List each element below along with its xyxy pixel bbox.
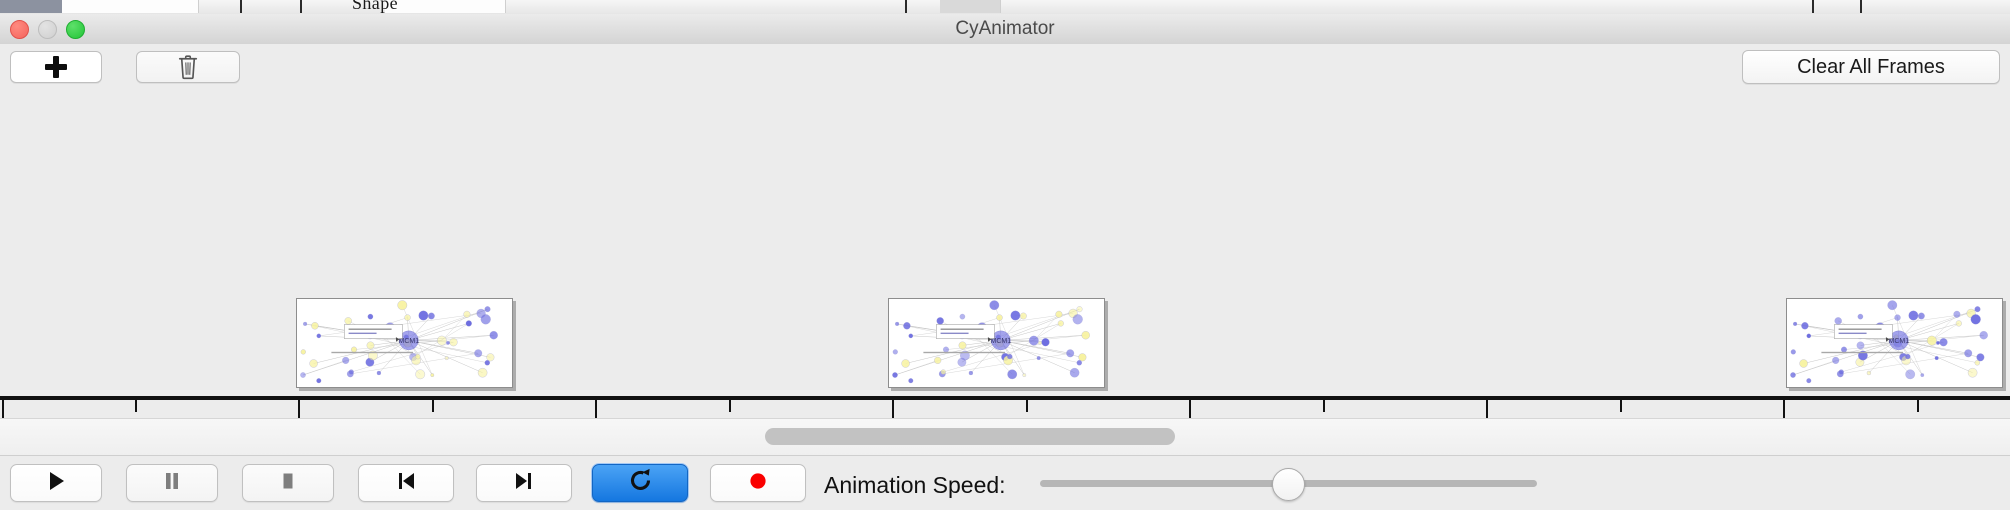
timeline-tick-minor [1026,400,1028,412]
background-window-tick [240,0,242,13]
frame-toolbar: Clear All Frames [0,44,2010,89]
timeline-tick-minor [1917,400,1919,412]
frame-thumbnail-2[interactable]: MCM1 [888,298,1105,388]
skip-forward-icon [511,468,537,499]
pause-button[interactable] [126,464,218,502]
background-window-label: Shape [352,0,398,14]
background-window-cell [158,0,199,13]
title-bar[interactable]: CyAnimator [0,14,2010,45]
scrollbar-thumb[interactable] [765,428,1175,445]
timeline-tick-minor [432,400,434,412]
timeline-tick-minor [1323,400,1325,412]
plus-icon [45,56,67,78]
timeline-scrollbar[interactable] [0,418,2010,456]
background-window-sidebar [0,0,62,13]
timeline-tick-major [892,400,894,418]
clear-all-frames-button[interactable]: Clear All Frames [1742,50,2000,84]
timeline-axis-line [0,396,2010,400]
next-frame-button[interactable] [476,464,572,502]
skip-back-icon [393,468,419,499]
animation-speed-slider-thumb[interactable] [1272,468,1305,501]
pause-icon [159,468,185,499]
timeline-tick-major [1783,400,1785,418]
timeline-tick-major [2,400,4,418]
frame-thumbnail-1[interactable]: MCM1 [296,298,513,388]
record-button[interactable] [710,464,806,502]
play-icon [43,468,69,499]
timeline-tick-major [298,400,300,418]
playback-control-bar: Animation Speed: [0,455,2010,510]
timeline-tick-major [1189,400,1191,418]
background-window-tick [905,0,907,13]
loop-icon [627,467,654,499]
cyanimator-window: Shape CyAnimator Clear All Frames [0,0,2010,510]
window-title: CyAnimator [0,14,2010,44]
add-frame-button[interactable] [10,51,102,83]
trash-icon [177,54,199,80]
timeline-tick-major [1486,400,1488,418]
record-icon [745,468,771,499]
timeline-panel[interactable]: MCM1MCM1MCM1 12131415161718 Seconds [0,88,2010,418]
timeline-tick-minor [729,400,731,412]
stop-icon [275,468,301,499]
timeline-tick-minor [135,400,137,412]
background-window-tick [1812,0,1814,13]
play-button[interactable] [10,464,102,502]
loop-button[interactable] [592,464,688,502]
timeline-tick-minor [1620,400,1622,412]
background-window-cell [385,0,506,13]
frame-thumbnail-3[interactable]: MCM1 [1786,298,2003,388]
animation-speed-label: Animation Speed: [824,472,1006,499]
previous-frame-button[interactable] [358,464,454,502]
delete-frame-button[interactable] [136,51,240,83]
background-window-cell [940,0,1001,13]
background-window-cell [62,0,159,13]
background-window-strip: Shape [0,0,2010,15]
stop-button[interactable] [242,464,334,502]
background-window-tick [1860,0,1862,13]
background-window-tick [300,0,302,13]
timeline-tick-major [595,400,597,418]
